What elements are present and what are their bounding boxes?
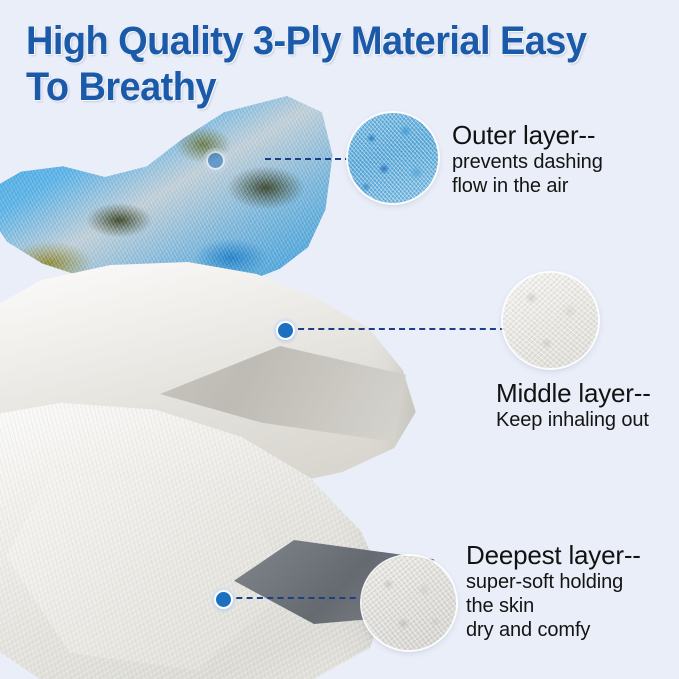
leader-line-middle (288, 328, 506, 330)
deepest-layer-zoom-bubble (362, 556, 456, 650)
callout-deepest-title: Deepest layer-- (466, 540, 641, 570)
callout-middle-body: Keep inhaling out (496, 408, 651, 432)
callout-middle-layer: Middle layer-- Keep inhaling out (496, 378, 651, 432)
callout-deepest-body: super-soft holding the skin dry and comf… (466, 570, 641, 642)
callout-outer-body: prevents dashing flow in the air (452, 150, 603, 198)
anchor-dot-deepest (214, 590, 233, 609)
anchor-dot-middle (276, 321, 295, 340)
middle-layer-zoom-bubble (503, 273, 598, 368)
callout-outer-title: Outer layer-- (452, 120, 603, 150)
leader-line-deepest (226, 597, 366, 599)
anchor-dot-outer (206, 151, 225, 170)
callout-deepest-layer: Deepest layer-- super-soft holding the s… (466, 540, 641, 642)
leader-line-outer (265, 158, 351, 160)
outer-layer-zoom-bubble (348, 113, 438, 203)
callout-middle-title: Middle layer-- (496, 378, 651, 408)
callout-outer-layer: Outer layer-- prevents dashing flow in t… (452, 120, 603, 198)
product-infographic: High Quality 3-Ply Material Easy To Brea… (0, 0, 679, 679)
